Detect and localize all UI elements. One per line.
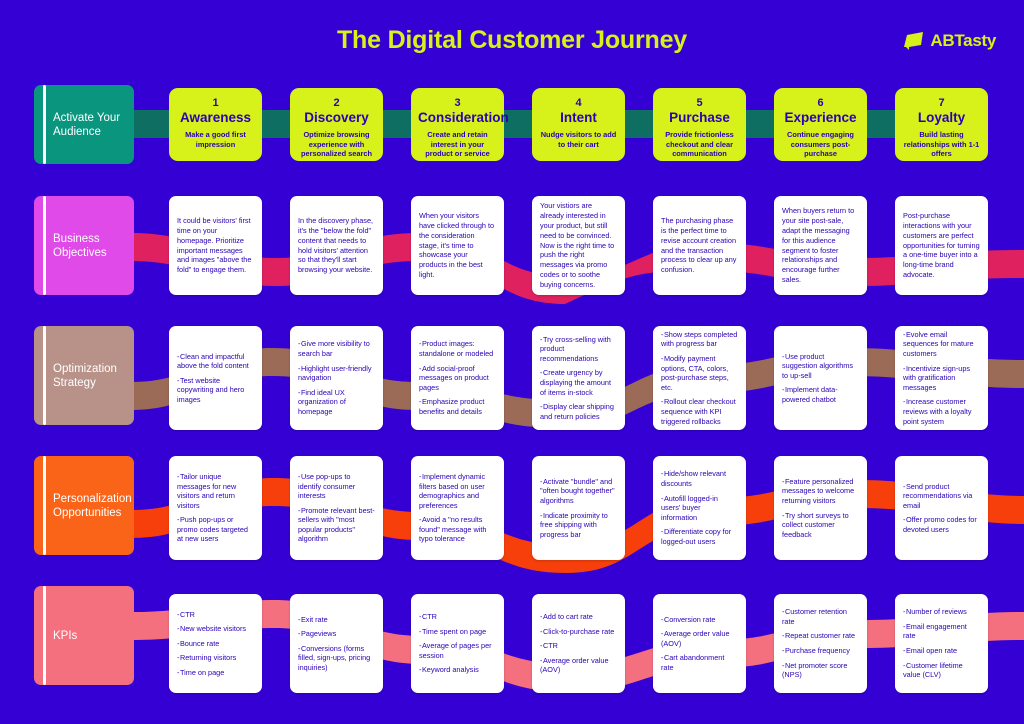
card-list: Implement dynamic filters based on user … [419,472,496,544]
kpi-card[interactable]: CTRNew website visitorsBounce rateReturn… [169,594,262,693]
card-list-item: Give more visibility to search bar [298,339,375,358]
card-list-item: Implement data-powered chatbot [782,385,859,404]
card-list-item: Click-to-purchase rate [540,627,617,637]
personalization-card[interactable]: Activate "bundle" and "often bought toge… [532,456,625,560]
card-list-item: Autofill logged-in users' buyer informat… [661,494,738,523]
card-list-item: New website visitors [177,624,254,634]
row-label-optimization-strategy: Optimization Strategy [34,326,134,425]
kpi-card[interactable]: Number of reviewsEmail engagement rateEm… [895,594,988,693]
card-list-item: Rollout clear checkout sequence with KPI… [661,397,738,426]
card-list: Use product suggestion algorithms to up-… [782,352,859,405]
card-list: CTRTime spent on pageAverage of pages pe… [419,612,496,675]
stage-card-1[interactable]: 1 Awareness Make a good first impression [169,88,262,161]
card-list: Tailor unique messages for new visitors … [177,472,254,544]
card-list-item: CTR [419,612,496,622]
kpi-card[interactable]: Customer retention rateRepeat customer r… [774,594,867,693]
card-list-item: Highlight user-friendly navigation [298,364,375,383]
card-list-item: Use product suggestion algorithms to up-… [782,352,859,381]
card-list-item: Purchase frequency [782,646,859,656]
stage-card-4[interactable]: 4 Intent Nudge visitors to add to their … [532,88,625,161]
stage-name: Discovery [297,110,376,126]
personalization-card[interactable]: Tailor unique messages for new visitors … [169,456,262,560]
connector-ribbons [0,0,1024,724]
card-list-item: Email open rate [903,646,980,656]
card-list: Hide/show relevant discountsAutofill log… [661,469,738,546]
optimization-card[interactable]: Use product suggestion algorithms to up-… [774,326,867,430]
card-list: Evolve email sequences for mature custom… [903,330,980,426]
accent-bar [43,586,46,685]
card-list: Try cross-selling with product recommend… [540,335,617,422]
card-list-item: Offer promo codes for devoted users [903,515,980,534]
business-objective-card[interactable]: When your visitors have clicked through … [411,196,504,295]
card-list-item: Avoid a "no results found" message with … [419,515,496,544]
card-list-item: Test website copywriting and hero images [177,376,254,405]
stage-name: Awareness [176,110,255,126]
kpi-card[interactable]: Add to cart rateClick-to-purchase rateCT… [532,594,625,693]
card-list-item: Create urgency by displaying the amount … [540,368,617,397]
card-text: Your vistiors are already interested in … [540,201,617,289]
card-list: Use pop-ups to identify consumer interes… [298,472,375,544]
card-list-item: Display clear shipping and return polici… [540,402,617,421]
card-list: Product images: standalone or modeledAdd… [419,339,496,416]
kpi-card[interactable]: Conversion rateAverage order value (AOV)… [653,594,746,693]
personalization-card[interactable]: Feature personalized messages to welcome… [774,456,867,560]
card-list-item: Clean and impactful above the fold conte… [177,352,254,371]
card-list-item: Number of reviews [903,607,980,617]
stage-number: 5 [660,96,739,110]
stage-name: Consideration [418,110,497,126]
stage-card-6[interactable]: 6 Experience Continue engaging consumers… [774,88,867,161]
stage-desc: Build lasting relationships with 1-1 off… [902,130,981,159]
kpi-card[interactable]: Exit ratePageviewsConversions (forms fil… [290,594,383,693]
card-list-item: Time on page [177,668,254,678]
card-list-item: Try short surveys to collect customer fe… [782,511,859,540]
stage-number: 4 [539,96,618,110]
card-list-item: Push pop-ups or promo codes targeted at … [177,515,254,544]
row-label-activate-your-audience: Activate Your Audience [34,85,134,164]
card-list-item: Conversions (forms filled, sign-ups, pri… [298,644,375,673]
row-label-business-objectives: Business Objectives [34,196,134,295]
optimization-card[interactable]: Give more visibility to search barHighli… [290,326,383,430]
card-list: Number of reviewsEmail engagement rateEm… [903,607,980,680]
card-list-item: Try cross-selling with product recommend… [540,335,617,364]
card-list: Add to cart rateClick-to-purchase rateCT… [540,612,617,675]
card-list-item: Repeat customer rate [782,631,859,641]
kpi-card[interactable]: CTRTime spent on pageAverage of pages pe… [411,594,504,693]
card-list-item: Emphasize product benefits and details [419,397,496,416]
card-list-item: Modify payment options, CTA, colors, pos… [661,354,738,392]
personalization-card[interactable]: Send product recommendations via emailOf… [895,456,988,560]
card-list-item: Returning visitors [177,653,254,663]
card-list-item: Promote relevant best-sellers with "most… [298,506,375,544]
card-list-item: Add social-proof messages on product pag… [419,364,496,393]
card-list-item: Average order value (AOV) [540,656,617,675]
infographic-canvas: The Digital Customer Journey ABTasty [0,0,1024,724]
card-text: The purchasing phase is the perfect time… [661,216,738,275]
card-text: In the discovery phase, it's the "below … [298,216,375,275]
row-label-text: Business Objectives [53,232,134,260]
optimization-card[interactable]: Try cross-selling with product recommend… [532,326,625,430]
card-list-item: CTR [540,641,617,651]
card-list-item: Differentiate copy for logged-out users [661,527,738,546]
stage-number: 3 [418,96,497,110]
card-list-item: Add to cart rate [540,612,617,622]
stage-name: Loyalty [902,110,981,126]
stage-card-2[interactable]: 2 Discovery Optimize browsing experience… [290,88,383,161]
card-list: Show steps completed with progress barMo… [661,330,738,426]
stage-name: Intent [539,110,618,126]
card-list-item: Email engagement rate [903,622,980,641]
stage-card-5[interactable]: 5 Purchase Provide frictionless checkout… [653,88,746,161]
stage-desc: Provide frictionless checkout and clear … [660,130,739,159]
card-list-item: Hide/show relevant discounts [661,469,738,488]
stage-number: 1 [176,96,255,110]
card-list-item: Indicate proximity to free shipping with… [540,511,617,540]
stage-desc: Continue engaging consumers post-purchas… [781,130,860,159]
card-list-item: Customer retention rate [782,607,859,626]
card-text: When buyers return to your site post-sal… [782,206,859,284]
optimization-card[interactable]: Show steps completed with progress barMo… [653,326,746,430]
card-list: Send product recommendations via emailOf… [903,482,980,535]
row-label-text: KPIs [53,629,83,643]
card-list-item: Feature personalized messages to welcome… [782,477,859,506]
row-label-text: Optimization Strategy [53,362,134,390]
card-list: Exit ratePageviewsConversions (forms fil… [298,615,375,673]
card-list-item: Bounce rate [177,639,254,649]
stage-number: 2 [297,96,376,110]
card-list-item: Keyword analysis [419,665,496,675]
card-list-item: Net promoter score (NPS) [782,661,859,680]
stage-number: 7 [902,96,981,110]
card-list-item: Tailor unique messages for new visitors … [177,472,254,510]
card-list-item: Send product recommendations via email [903,482,980,511]
stage-desc: Make a good first impression [176,130,255,149]
accent-bar [43,196,46,295]
card-list-item: Pageviews [298,629,375,639]
card-list-item: Conversion rate [661,615,738,625]
card-list-item: CTR [177,610,254,620]
stage-card-7[interactable]: 7 Loyalty Build lasting relationships wi… [895,88,988,161]
optimization-card[interactable]: Clean and impactful above the fold conte… [169,326,262,430]
card-list: Customer retention rateRepeat customer r… [782,607,859,680]
card-list-item: Customer lifetime value (CLV) [903,661,980,680]
business-objective-card[interactable]: Post-purchase interactions with your cus… [895,196,988,295]
card-text: Post-purchase interactions with your cus… [903,211,980,280]
card-list-item: Find ideal UX organization of homepage [298,388,375,417]
personalization-card[interactable]: Hide/show relevant discountsAutofill log… [653,456,746,560]
stage-card-3[interactable]: 3 Consideration Create and retain intere… [411,88,504,161]
card-list-item: Cart abandonment rate [661,653,738,672]
card-list: Clean and impactful above the fold conte… [177,352,254,405]
optimization-card[interactable]: Product images: standalone or modeledAdd… [411,326,504,430]
business-objective-card[interactable]: Your vistiors are already interested in … [532,196,625,295]
accent-bar [43,326,46,425]
business-objective-card[interactable]: When buyers return to your site post-sal… [774,196,867,295]
stage-number: 6 [781,96,860,110]
card-list: Conversion rateAverage order value (AOV)… [661,615,738,673]
card-list-item: Show steps completed with progress bar [661,330,738,349]
card-text: It could be visitors' first time on your… [177,216,254,275]
card-list-item: Use pop-ups to identify consumer interes… [298,472,375,501]
row-label-kpis: KPIs [34,586,134,685]
stage-desc: Nudge visitors to add to their cart [539,130,618,149]
card-list-item: Average of pages per session [419,641,496,660]
row-label-text: Activate Your Audience [53,111,134,139]
personalization-card[interactable]: Implement dynamic filters based on user … [411,456,504,560]
business-objective-card[interactable]: It could be visitors' first time on your… [169,196,262,295]
stage-desc: Create and retain interest in your produ… [418,130,497,159]
card-list-item: Increase customer reviews with a loyalty… [903,397,980,426]
card-list-item: Activate "bundle" and "often bought toge… [540,477,617,506]
row-label-personalization-opportunities: Personalization Opportunities [34,456,134,555]
stage-desc: Optimize browsing experience with person… [297,130,376,159]
card-list: Give more visibility to search barHighli… [298,339,375,416]
card-list-item: Implement dynamic filters based on user … [419,472,496,510]
card-list: CTRNew website visitorsBounce rateReturn… [177,610,254,678]
accent-bar [43,85,46,164]
accent-bar [43,456,46,555]
card-list-item: Exit rate [298,615,375,625]
card-list: Feature personalized messages to welcome… [782,477,859,540]
optimization-card[interactable]: Evolve email sequences for mature custom… [895,326,988,430]
stage-name: Purchase [660,110,739,126]
business-objective-card[interactable]: In the discovery phase, it's the "below … [290,196,383,295]
card-list-item: Product images: standalone or modeled [419,339,496,358]
card-list-item: Time spent on page [419,627,496,637]
stage-name: Experience [781,110,860,126]
card-list: Activate "bundle" and "often bought toge… [540,477,617,540]
row-label-text: Personalization Opportunities [53,492,138,520]
card-list-item: Evolve email sequences for mature custom… [903,330,980,359]
personalization-card[interactable]: Use pop-ups to identify consumer interes… [290,456,383,560]
card-list-item: Incentivize sign-ups with gratification … [903,364,980,393]
card-list-item: Average order value (AOV) [661,629,738,648]
business-objective-card[interactable]: The purchasing phase is the perfect time… [653,196,746,295]
card-text: When your visitors have clicked through … [419,211,496,280]
